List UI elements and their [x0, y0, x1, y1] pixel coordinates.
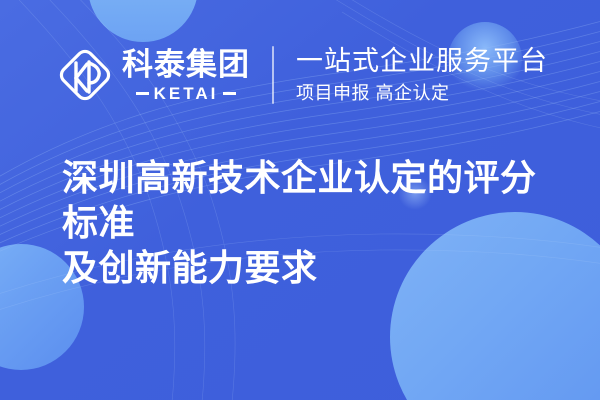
brand-name-en-row: KETAI	[122, 85, 250, 103]
brand-name-cn: 科泰集团	[122, 48, 250, 82]
slogan-block: 一站式企业服务平台 项目申报 高企认定	[296, 45, 548, 105]
header-divider	[272, 46, 274, 104]
decorative-circle-top	[88, 0, 198, 42]
promo-banner: 科泰集团 KETAI 一站式企业服务平台 项目申报 高企认定 深圳高新技术企业认…	[0, 0, 600, 400]
dash-left-icon	[136, 92, 149, 95]
brand-logo-text: 科泰集团 KETAI	[122, 48, 250, 103]
page-title: 深圳高新技术企业认定的评分标准 及创新能力要求	[62, 155, 562, 290]
banner-header: 科泰集团 KETAI 一站式企业服务平台 项目申报 高企认定	[0, 38, 600, 112]
page-title-line-1: 深圳高新技术企业认定的评分标准	[62, 155, 562, 245]
dash-right-icon	[223, 92, 236, 95]
page-title-line-2: 及创新能力要求	[62, 245, 562, 290]
slogan-primary: 一站式企业服务平台	[296, 45, 548, 77]
brand-logo[interactable]: 科泰集团 KETAI	[56, 45, 250, 105]
brand-name-en: KETAI	[154, 85, 219, 103]
slogan-secondary: 项目申报 高企认定	[296, 81, 548, 105]
ketai-diamond-kp-logo-icon	[56, 45, 114, 105]
